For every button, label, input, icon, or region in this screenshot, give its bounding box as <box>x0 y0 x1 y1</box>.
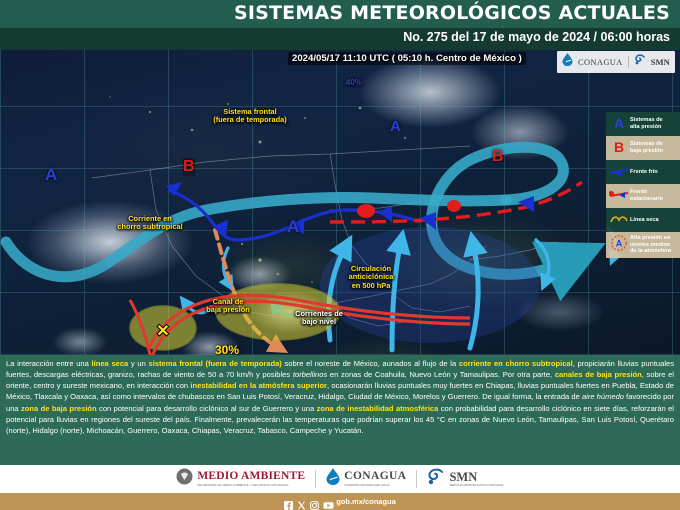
probability-atlantic: 40% <box>346 78 362 87</box>
stationary-front-icon <box>608 187 630 205</box>
svg-text:✕: ✕ <box>156 323 169 340</box>
satellite-weather-map[interactable]: ✕ A A A B B B Corriente en chorro subtro… <box>0 50 680 355</box>
svg-text:A: A <box>616 238 623 248</box>
x-icon[interactable] <box>297 497 306 506</box>
medio-ambiente-wordmark: MEDIO AMBIENTE <box>197 471 305 483</box>
legend-item-dry-line[interactable]: Línea seca <box>606 208 680 232</box>
frontal-system-label: Sistema frontal (fuera de temporada) <box>185 108 315 125</box>
conagua-logo: CONAGUA COMISIÓN NACIONAL DEL AGUA <box>326 468 406 490</box>
conagua-wordmark: CONAGUA <box>578 58 623 67</box>
map-legend: A Sistemas de alta presión B Sistemas de… <box>606 112 680 258</box>
bulletin-number-date: No. 275 del 17 de mayo de 2024 / 06:00 h… <box>403 30 670 44</box>
conagua-drop-icon <box>326 468 340 490</box>
subtropical-jet-label: Corriente en chorro subtropical <box>100 215 200 232</box>
letter-B-red-icon: B <box>608 139 630 157</box>
gob-mx-url[interactable]: gob.mx/conagua <box>336 497 396 506</box>
footer-logos: MEDIO AMBIENTE SECRETARÍA DE MEDIO AMBIE… <box>0 465 680 493</box>
probability-7d: 30% <box>215 343 239 355</box>
smn-logo: SMN SERVICIO METEOROLÓGICO NACIONAL <box>427 468 503 491</box>
legend-label-low-pressure: Sistemas de baja presión <box>630 141 663 155</box>
pressure-center-A-gulf: A <box>287 217 299 237</box>
legend-label-dry-line: Línea seca <box>630 217 659 224</box>
header-logos: CONAGUA SMN <box>557 51 675 73</box>
discussion-text: La interacción entre una línea seca y un… <box>0 355 680 465</box>
medio-ambiente-tagline: SECRETARÍA DE MEDIO AMBIENTE Y RECURSOS … <box>197 484 305 487</box>
pressure-center-B-frontal: B <box>183 158 195 176</box>
discussion-paragraph: La interacción entre una línea seca y un… <box>6 359 674 435</box>
footer-divider-1 <box>315 470 316 488</box>
pressure-center-A: A <box>45 165 57 185</box>
legend-label-cold-front: Frente frío <box>630 169 658 176</box>
dry-line-icon <box>608 211 630 229</box>
pressure-center-A-north: A <box>390 118 401 135</box>
legend-item-mid-level-high[interactable]: A Alta presión en niveles medios de la a… <box>606 232 680 258</box>
conagua-wordmark: CONAGUA <box>344 471 406 483</box>
medio-ambiente-logo: MEDIO AMBIENTE SECRETARÍA DE MEDIO AMBIE… <box>176 468 305 490</box>
page-title: SISTEMAS METEOROLÓGICOS ACTUALES <box>234 2 670 24</box>
letter-A-blue-icon: A <box>608 115 630 133</box>
map-timestamp: 2024/05/17 11:10 UTC ( 05:10 h. Centro d… <box>288 52 526 65</box>
youtube-icon[interactable] <box>323 497 332 506</box>
mid-level-high-icon: A <box>608 234 630 257</box>
legend-item-cold-front[interactable]: Frente frío <box>606 160 680 184</box>
legend-item-low-pressure[interactable]: B Sistemas de baja presión <box>606 136 680 160</box>
facebook-icon[interactable] <box>284 497 293 506</box>
legend-item-high-pressure[interactable]: A Sistemas de alta presión <box>606 112 680 136</box>
smn-swirl-icon <box>634 53 646 71</box>
cold-front-icon <box>608 163 630 181</box>
conagua-tagline: COMISIÓN NACIONAL DEL AGUA <box>344 484 406 487</box>
footer-social-bar: gob.mx/conagua <box>0 493 680 510</box>
smn-wordmark: SMN <box>449 471 503 484</box>
conagua-drop-icon <box>562 53 573 71</box>
smn-swirl-icon <box>427 468 445 491</box>
pressure-center-B-atlantic: B <box>492 148 504 166</box>
low-pressure-trough-label: Canal de baja presión <box>193 298 263 315</box>
legend-label-high-pressure: Sistemas de alta presión <box>630 117 663 131</box>
weather-bulletin-page: SISTEMAS METEOROLÓGICOS ACTUALES No. 275… <box>0 0 680 510</box>
low-level-currents-label: Corrientes de bajo nivel <box>282 310 356 327</box>
legend-label-stationary-front: Frente estacionario <box>630 189 663 203</box>
smn-tagline: SERVICIO METEOROLÓGICO NACIONAL <box>449 484 503 487</box>
mexico-eagle-icon <box>176 468 193 490</box>
instagram-icon[interactable] <box>310 497 319 506</box>
anticyclonic-circulation-label: Circulación anticiclónica en 500 hPa <box>332 265 410 290</box>
footer-divider-2 <box>416 470 417 488</box>
legend-item-stationary-front[interactable]: Frente estacionario <box>606 184 680 208</box>
logo-divider <box>628 56 629 68</box>
legend-label-mid-level-high: Alta presión en niveles medios de la atm… <box>630 235 671 255</box>
smn-wordmark: SMN <box>651 57 670 67</box>
